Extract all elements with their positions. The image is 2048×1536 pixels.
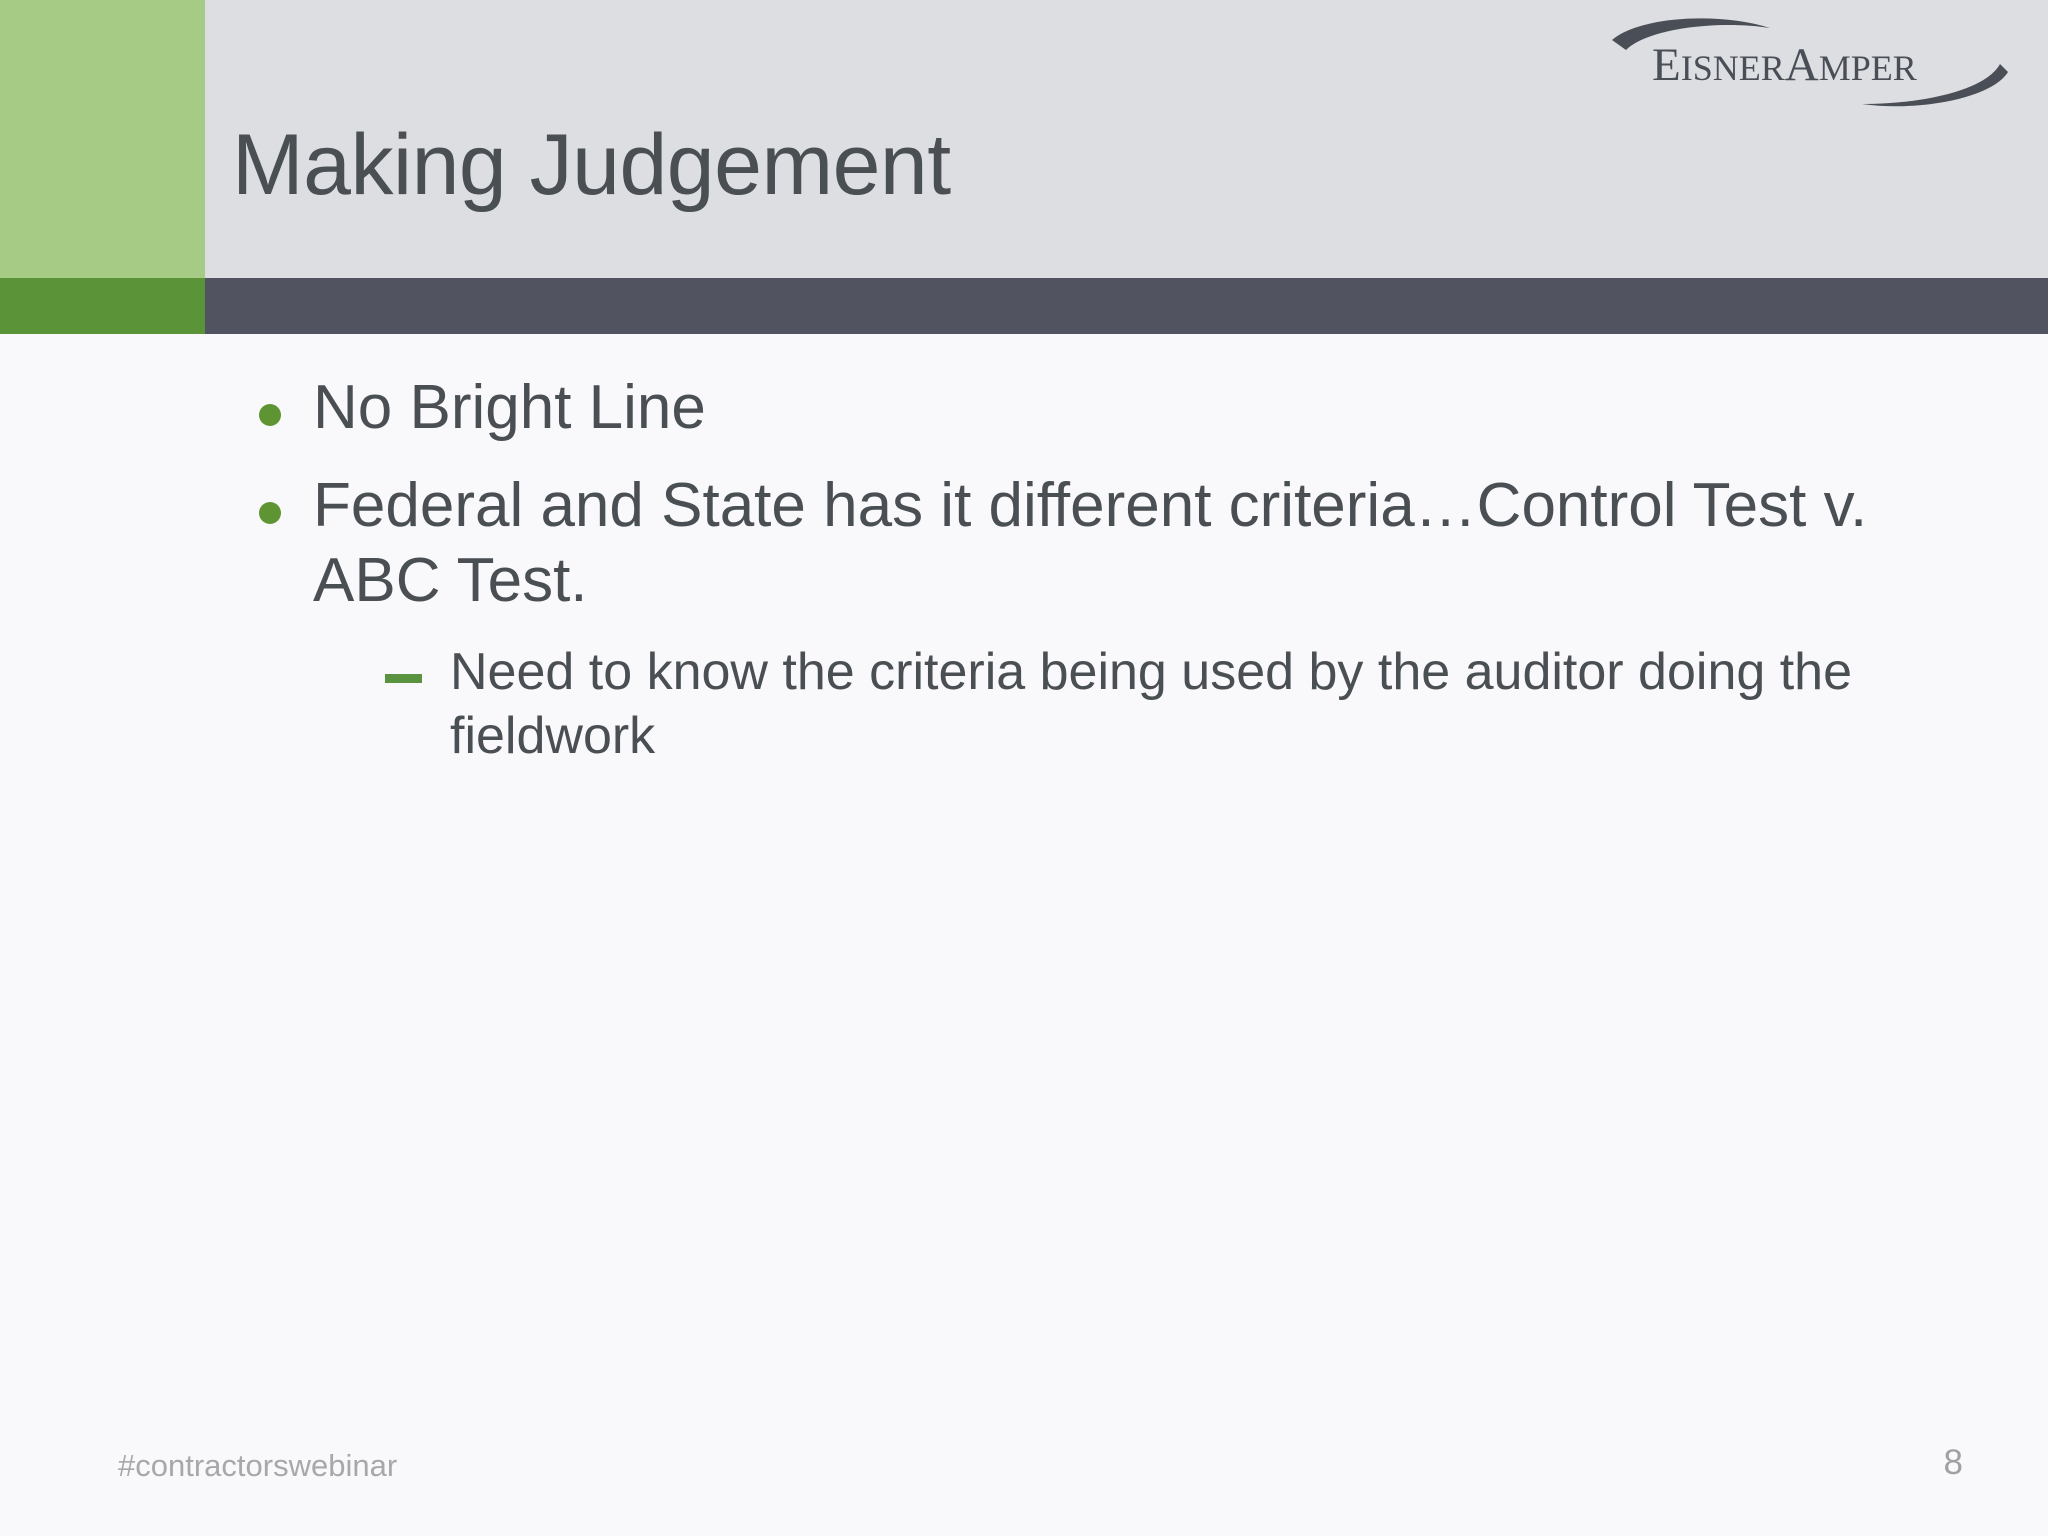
bullet-text: Federal and State has it different crite…: [313, 471, 1867, 616]
eisneramper-logo: EISNERAMPER: [1600, 14, 2020, 110]
logo-swoosh-top: [1612, 18, 1770, 50]
bullet-dot-icon: [259, 404, 281, 426]
accent-column-green-dark: [0, 278, 205, 334]
logo-wordmark: EISNERAMPER: [1652, 39, 1917, 91]
bullet-text: No Bright Line: [313, 373, 706, 442]
list-item: Federal and State has it different crite…: [205, 468, 1905, 619]
list-item: Need to know the criteria being used by …: [205, 641, 1905, 769]
slide: Making Judgement EISNERAMPER No Bright L…: [0, 0, 2048, 1536]
bullet-dash-icon: [385, 674, 422, 683]
accent-column-green: [0, 0, 205, 278]
page-title: Making Judgement: [232, 122, 951, 208]
bullet-dot-icon: [259, 502, 281, 524]
slide-body: No Bright Line Federal and State has it …: [205, 370, 1905, 769]
header-divider-bar: [205, 278, 2048, 334]
sub-bullet-text: Need to know the criteria being used by …: [450, 643, 1852, 765]
footer-hashtag: #contractorswebinar: [118, 1448, 397, 1484]
list-item: No Bright Line: [205, 370, 1905, 446]
page-number: 8: [1944, 1443, 1963, 1483]
sub-list: Need to know the criteria being used by …: [205, 641, 1905, 769]
